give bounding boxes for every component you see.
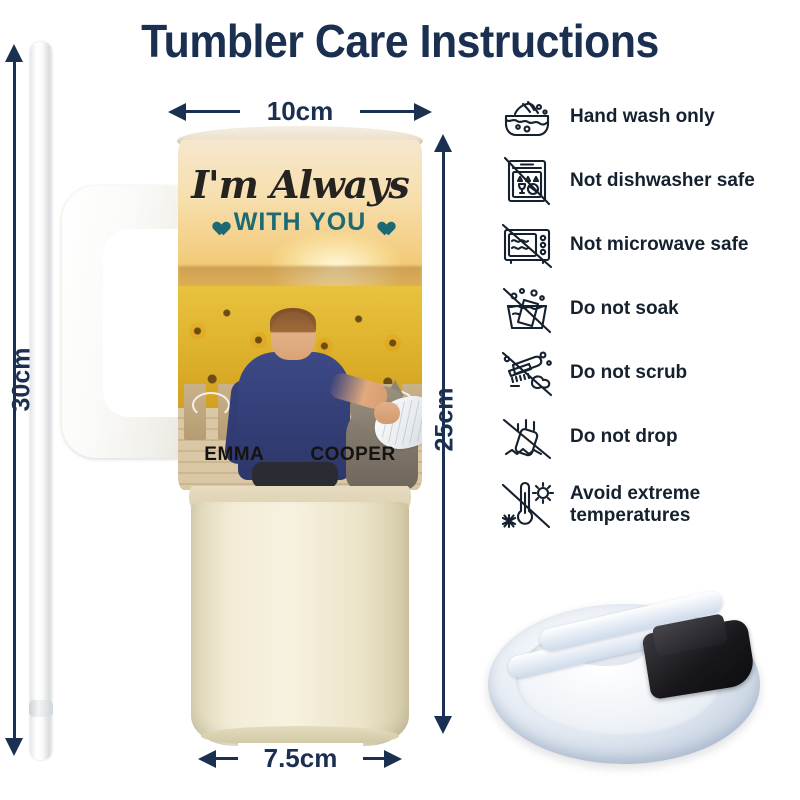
care-row-hand-wash: Hand wash only xyxy=(498,88,798,146)
care-label: Do not drop xyxy=(570,426,678,448)
dimension-arrow-down-25cm xyxy=(434,716,452,734)
artwork-dock-rope xyxy=(192,392,230,418)
artwork-name-right: COOPER xyxy=(310,444,395,466)
tumbler-lower-body xyxy=(191,502,409,746)
care-instructions-list: Hand wash only Not dishwasher safe xyxy=(498,88,798,544)
care-label: Not microwave safe xyxy=(570,234,748,256)
dimension-label-top-width: 10cm xyxy=(240,96,360,127)
tumbler-product-image: I'm Always WITH YOU EMMA COOPER xyxy=(175,126,425,751)
care-label: Hand wash only xyxy=(570,106,715,128)
artwork-headline: I'm Always xyxy=(178,162,422,207)
dimension-label-tumbler-height: 25cm xyxy=(431,385,460,455)
product-spec-sheet: Tumbler Care Instructions 30cm 10cm xyxy=(0,0,800,800)
artwork-name-left: EMMA xyxy=(204,444,264,466)
dimension-arrow-right-10cm xyxy=(414,103,432,121)
dimension-label-base-width: 7.5cm xyxy=(238,743,363,774)
dimension-arrow-down-30cm xyxy=(5,738,23,756)
care-row-no-scrub: Do not scrub xyxy=(498,344,798,402)
care-label: Do not soak xyxy=(570,298,679,320)
artwork-subline: WITH YOU xyxy=(178,208,422,237)
no-scrub-icon xyxy=(498,347,556,399)
dimension-arrow-right-75cm xyxy=(384,750,402,768)
tumbler-printed-artwork: I'm Always WITH YOU xyxy=(178,140,422,490)
heart-icon xyxy=(375,216,390,230)
artwork-names: EMMA COOPER xyxy=(178,444,422,466)
care-label: Not dishwasher safe xyxy=(570,170,755,192)
care-label: Avoid extreme temperatures xyxy=(570,483,798,527)
artwork-subline-text: WITH YOU xyxy=(234,208,367,237)
straw-ring xyxy=(29,700,53,717)
care-row-no-drop: Do not drop xyxy=(498,408,798,466)
dimension-label-total-height: 30cm xyxy=(8,345,37,415)
care-row-no-soak: Do not soak xyxy=(498,280,798,338)
page-title: Tumbler Care Instructions xyxy=(28,14,772,68)
no-dishwasher-icon xyxy=(498,155,556,207)
care-row-no-extreme-temperatures: Avoid extreme temperatures xyxy=(498,472,798,538)
artwork-person-hand xyxy=(374,402,400,424)
care-row-no-dishwasher: Not dishwasher safe xyxy=(498,152,798,210)
tumbler-lid-image xyxy=(478,580,778,780)
care-row-no-microwave: Not microwave safe xyxy=(498,216,798,274)
no-microwave-icon xyxy=(498,219,556,271)
no-drop-icon xyxy=(498,411,556,463)
artwork-person-head xyxy=(271,312,315,360)
care-label: Do not scrub xyxy=(570,362,687,384)
hand-wash-icon xyxy=(498,91,556,143)
no-soak-icon xyxy=(498,283,556,335)
no-extreme-temp-icon xyxy=(498,479,556,531)
heart-icon xyxy=(210,216,225,230)
